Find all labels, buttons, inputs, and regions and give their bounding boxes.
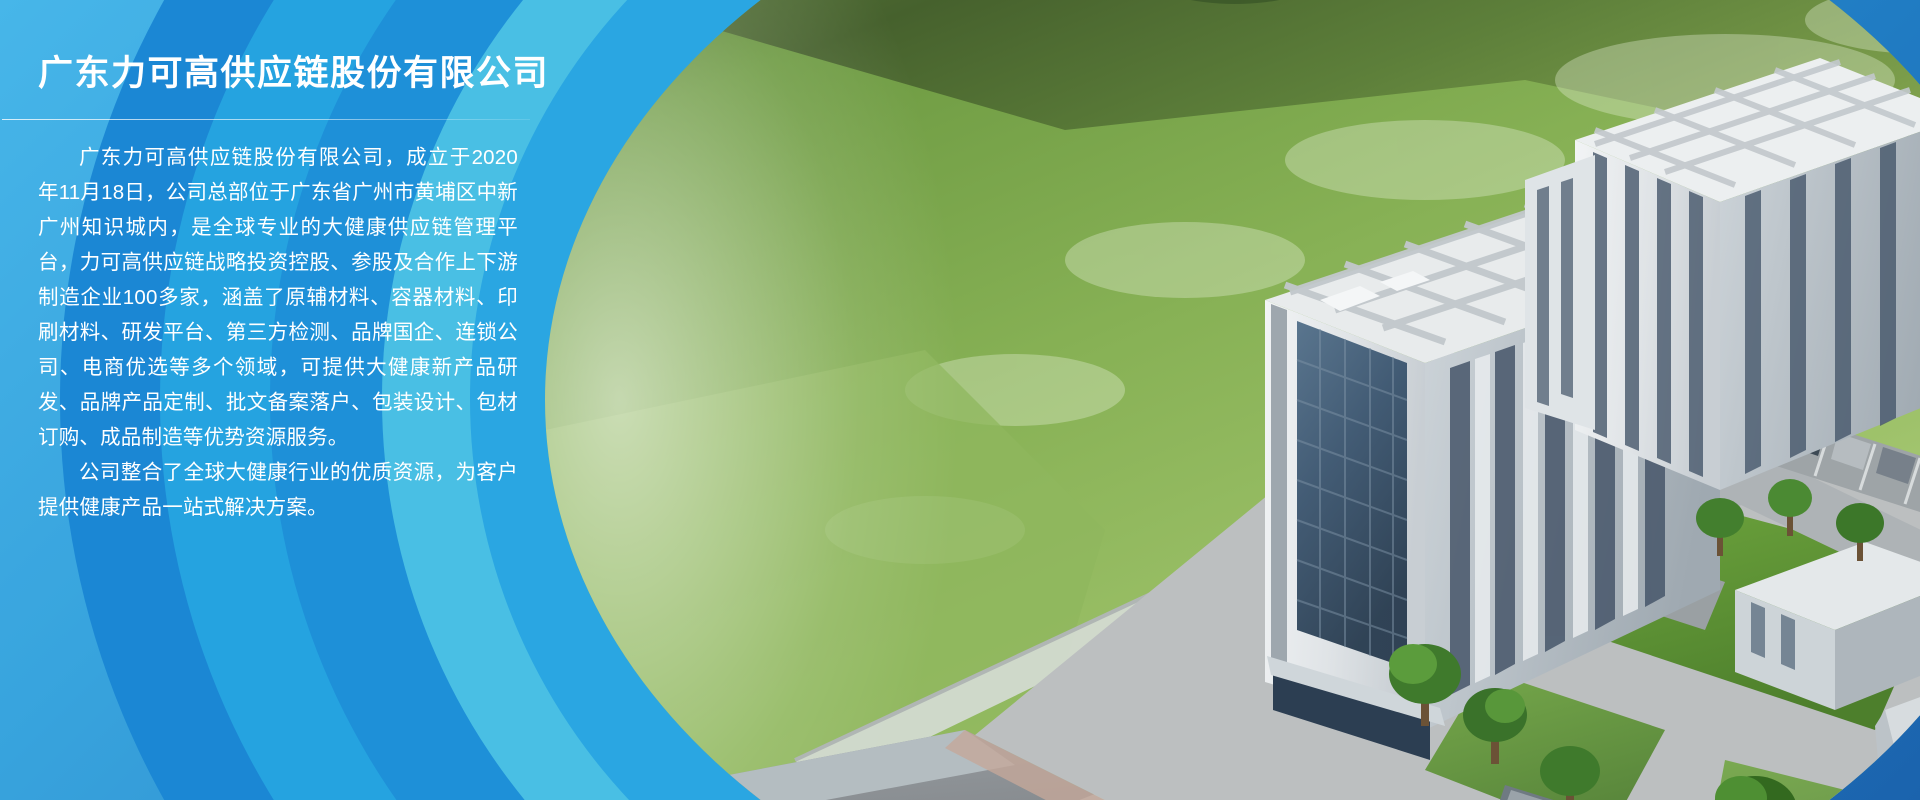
- description-paragraph-1: 广东力可高供应链股份有限公司，成立于2020年11月18日，公司总部位于广东省广…: [38, 140, 518, 455]
- description-paragraph-2: 公司整合了全球大健康行业的优质资源，为客户提供健康产品一站式解决方案。: [38, 455, 518, 525]
- text-column: 广东力可高供应链股份有限公司 广东力可高供应链股份有限公司，成立于2020年11…: [0, 0, 560, 800]
- company-description: 广东力可高供应链股份有限公司，成立于2020年11月18日，公司总部位于广东省广…: [38, 140, 520, 525]
- title-divider: [2, 119, 530, 120]
- page-title: 广东力可高供应链股份有限公司: [38, 52, 520, 96]
- company-profile-banner: 广东力可高供应链股份有限公司 广东力可高供应链股份有限公司，成立于2020年11…: [0, 0, 1920, 800]
- headquarters-photo: [545, 0, 1920, 800]
